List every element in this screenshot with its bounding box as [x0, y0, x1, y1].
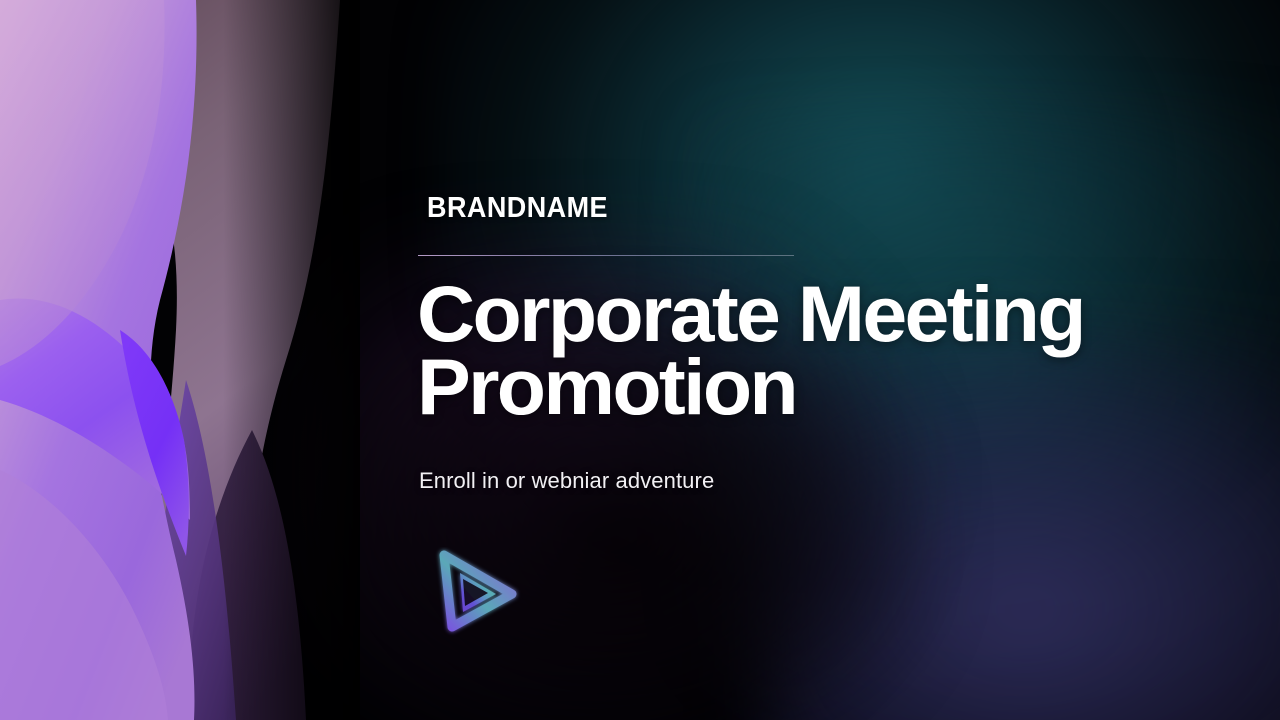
page-title: Corporate Meeting Promotion [417, 278, 1202, 423]
headline-line-1: Corporate Meeting [417, 278, 1202, 351]
edge-fade-overlay [0, 0, 360, 720]
subtitle-text: Enroll in or webniar adventure [419, 468, 714, 494]
brand-name: BRANDNAME [427, 192, 608, 225]
headline-line-2: Promotion [417, 351, 1202, 424]
play-triangle-svg [430, 547, 526, 637]
play-triangle-logo-icon[interactable] [430, 547, 526, 637]
divider-line [418, 255, 794, 256]
promo-slide: BRANDNAME Corporate Meeting Promotion En… [0, 0, 1280, 720]
abstract-shapes-svg [0, 0, 360, 720]
decorative-abstract-panel [0, 0, 360, 720]
content-block: BRANDNAME Corporate Meeting Promotion En… [417, 0, 1197, 720]
